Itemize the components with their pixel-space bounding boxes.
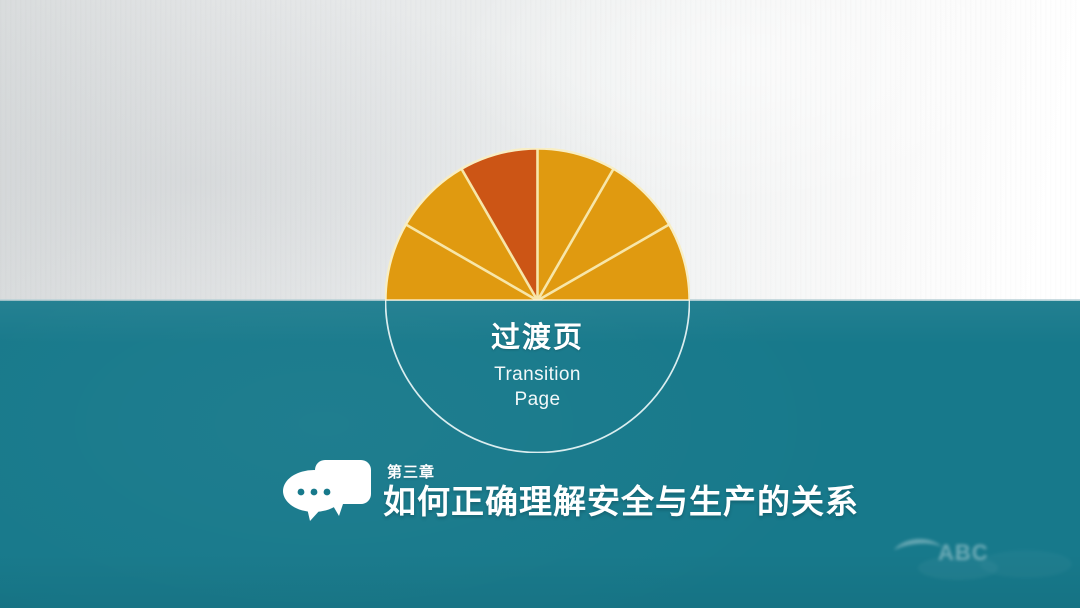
- transition-title-cn: 过渡页: [385, 320, 690, 356]
- transition-title-en-line1: Transition: [385, 363, 690, 387]
- transition-slide: 过渡页 Transition Page 第三章 如何正确理解安全与生产的关系: [0, 0, 1080, 608]
- chapter-number: 第三章: [387, 461, 859, 482]
- transition-text-block: 过渡页 Transition Page: [385, 320, 690, 412]
- speech-bubbles-icon: [281, 458, 373, 522]
- chapter-text-block: 第三章 如何正确理解安全与生产的关系: [383, 461, 859, 522]
- transition-title-en-line2: Page: [385, 388, 690, 412]
- chapter-title: 如何正确理解安全与生产的关系: [383, 484, 859, 521]
- transition-title-en: Transition Page: [385, 363, 690, 412]
- chapter-heading: 第三章 如何正确理解安全与生产的关系: [281, 458, 859, 522]
